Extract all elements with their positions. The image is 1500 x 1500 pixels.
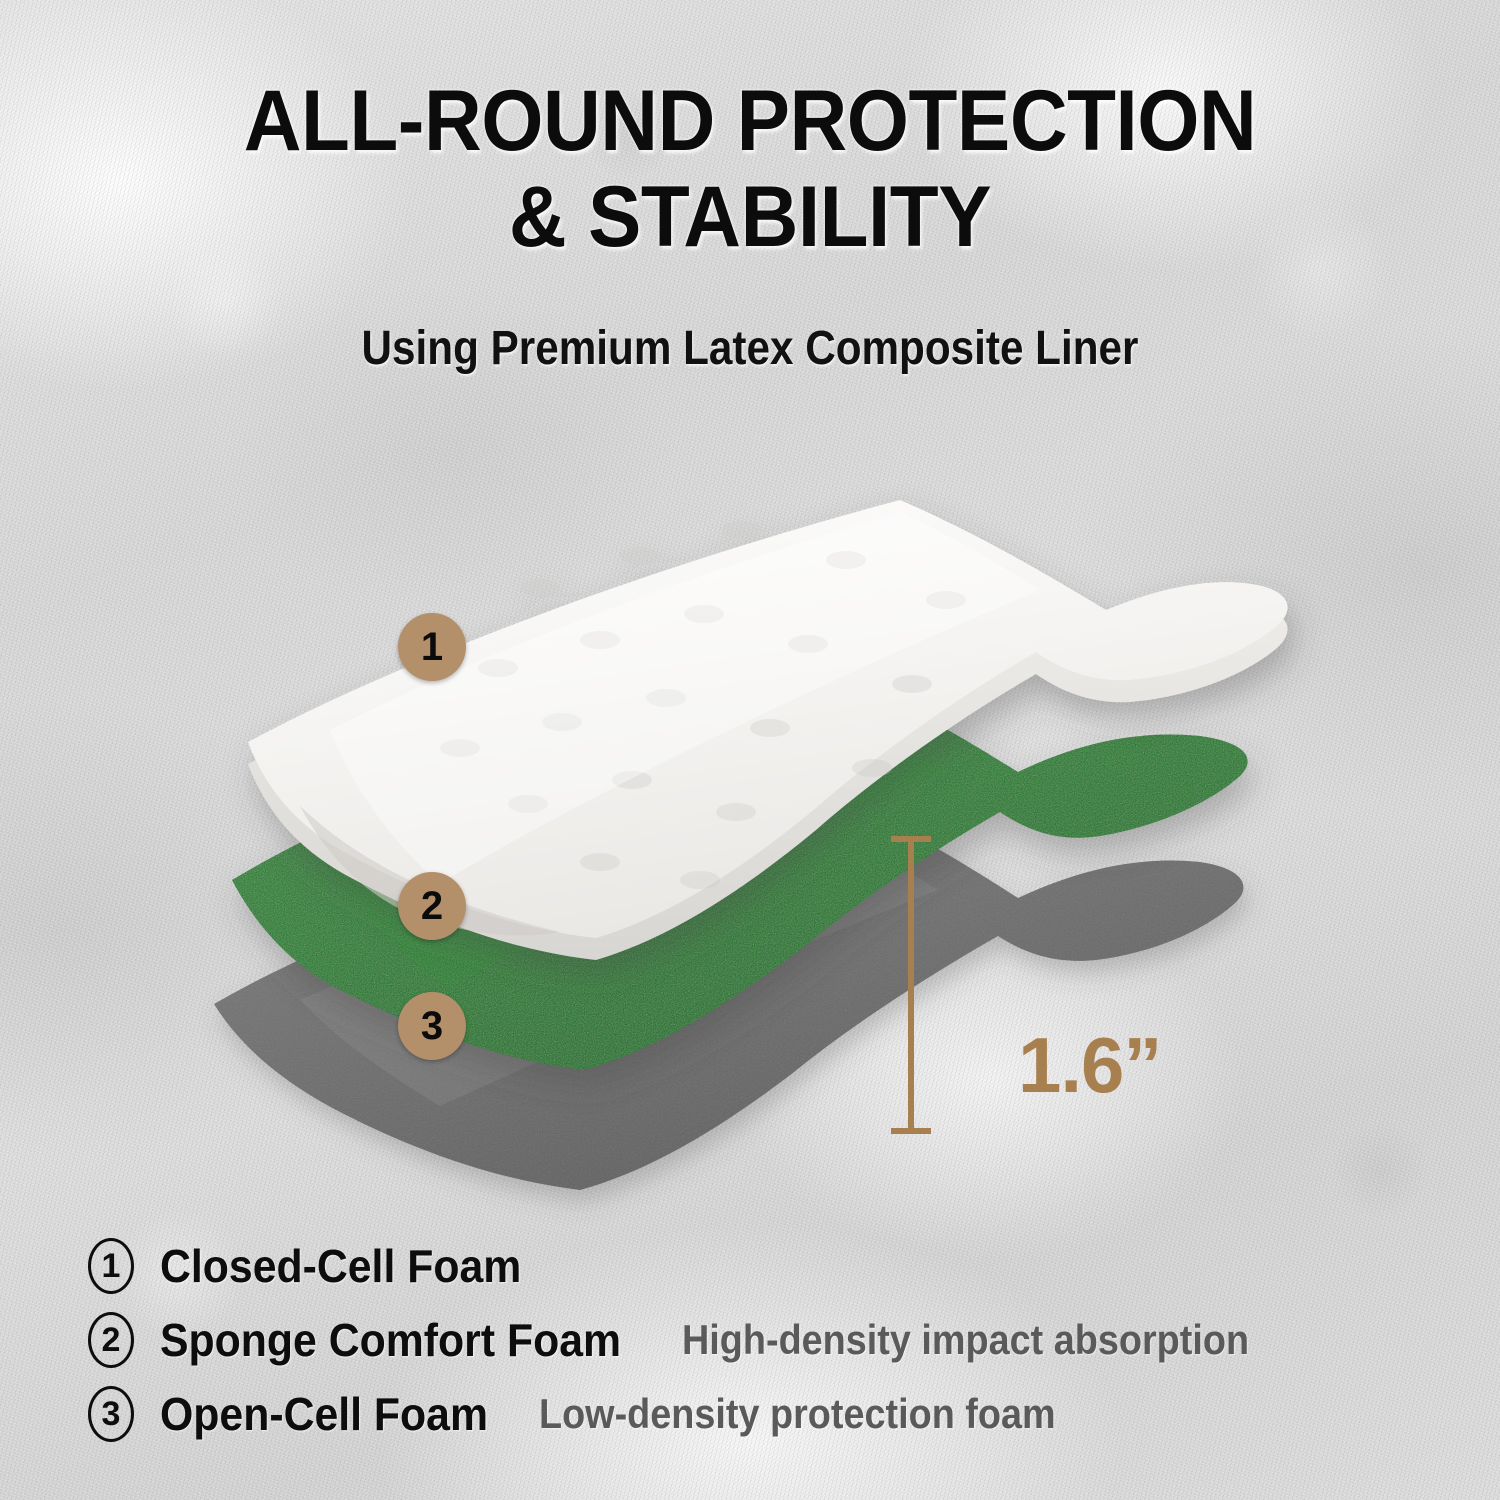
- page-title-line-1: ALL-ROUND PROTECTION: [53, 78, 1448, 166]
- legend-title-3: Open-Cell Foam: [160, 1391, 488, 1437]
- legend-number-3: 3: [88, 1386, 134, 1442]
- layer-legend: 1 Closed-Cell Foam 2 Sponge Comfort Foam…: [88, 1238, 1312, 1442]
- legend-title-2: Sponge Comfort Foam: [160, 1317, 621, 1363]
- legend-desc-2: High-density impact absorption: [682, 1319, 1249, 1361]
- legend-desc-3: Low-density protection foam: [539, 1393, 1056, 1435]
- infographic-canvas: ALL-ROUND PROTECTION & STABILITY Using P…: [0, 0, 1500, 1500]
- legend-item-open-cell-foam: 3 Open-Cell Foam Low-density protection …: [88, 1386, 1312, 1442]
- page-subtitle: Using Premium Latex Composite Liner: [90, 321, 1410, 376]
- legend-item-closed-cell-foam: 1 Closed-Cell Foam: [88, 1238, 1312, 1294]
- thickness-dimension-line: [908, 836, 914, 1134]
- legend-number-1: 1: [88, 1238, 134, 1294]
- page-title-line-2: & STABILITY: [53, 174, 1448, 262]
- callout-badge-1[interactable]: 1: [398, 613, 466, 681]
- thickness-dimension-label: 1.6”: [1018, 1026, 1161, 1104]
- legend-number-2: 2: [88, 1312, 134, 1368]
- callout-badge-3[interactable]: 3: [398, 992, 466, 1060]
- callout-badge-2[interactable]: 2: [398, 872, 466, 940]
- heading-block: ALL-ROUND PROTECTION & STABILITY Using P…: [0, 78, 1500, 376]
- legend-item-sponge-comfort-foam: 2 Sponge Comfort Foam High-density impac…: [88, 1312, 1312, 1368]
- legend-title-1: Closed-Cell Foam: [160, 1243, 521, 1289]
